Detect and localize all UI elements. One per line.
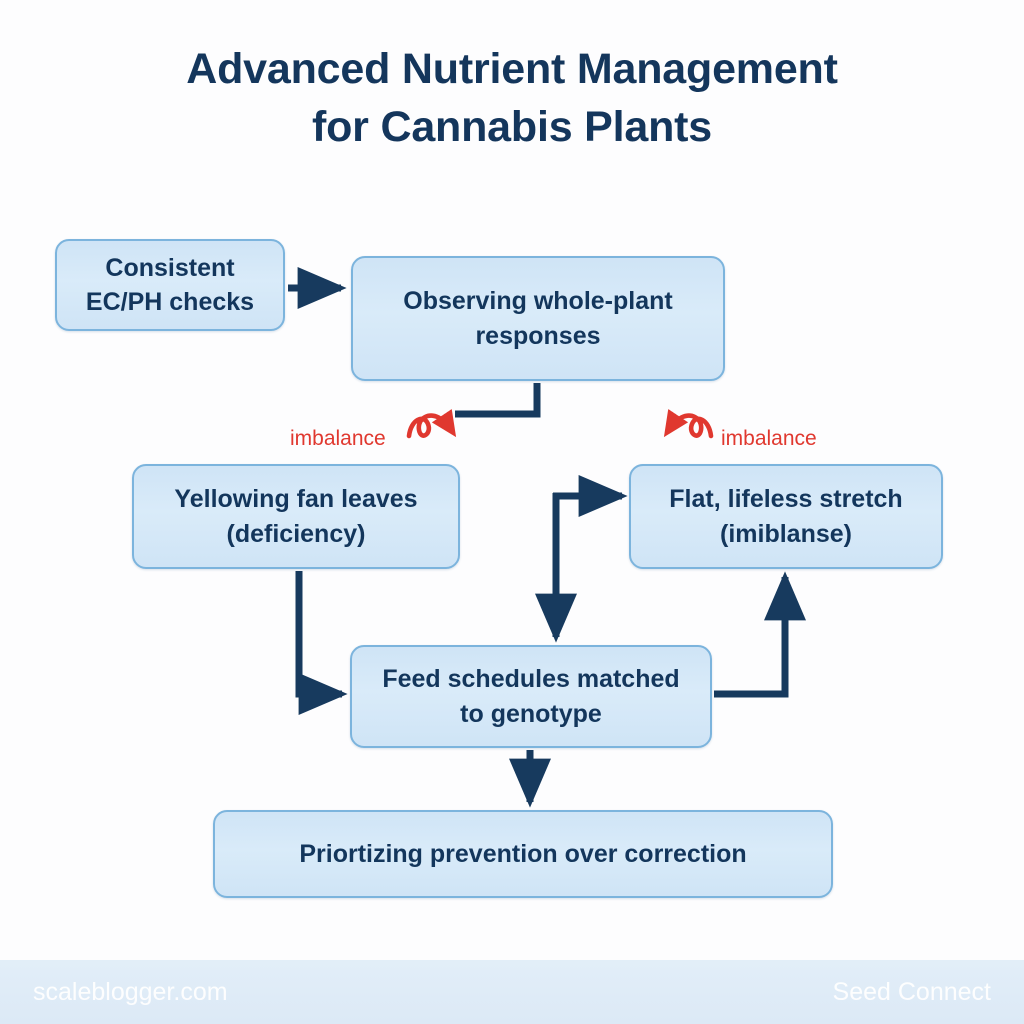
node-prevention-label: Priortizing prevention over correction [299,837,746,872]
node-observing-line-1: Observing whole-plant [403,287,672,315]
node-feed-line-1: Feed schedules matched [382,665,679,693]
node-feed-line-2: to genotype [460,700,602,728]
footer-bar: scaleblogger.com Seed Connect [0,960,1024,1024]
imbalance-label-right: imbalance [721,427,817,451]
node-flat-lifeless-stretch[interactable]: Flat, lifeless stretch (imiblanse) [629,464,943,569]
footer-brand-name: Seed Connect [833,978,991,1007]
node-flat-line-2: (imiblanse) [720,520,852,548]
node-prioritizing-prevention-over-correction[interactable]: Priortizing prevention over correction [213,810,833,898]
imbalance-right-curl-icon [668,416,711,436]
edge-branch-to-feed [553,493,559,637]
node-observing-line-2: responses [475,322,600,350]
node-observing-whole-plant-responses[interactable]: Observing whole-plant responses [351,256,725,381]
edge-yellowing-to-feed [299,571,342,694]
node-yellowing-line-1: Yellowing fan leaves [174,485,417,513]
node-ec-ph-line-2: EC/PH checks [86,288,254,316]
node-feed-schedules-matched-to-genotype[interactable]: Feed schedules matched to genotype [350,645,712,748]
edge-feed-to-flat [714,577,785,694]
edge-observing-to-branch [455,383,537,414]
node-ec-ph-line-1: Consistent [105,254,234,282]
imbalance-left-curl-icon [409,416,452,436]
node-consistent-ec-ph-checks[interactable]: Consistent EC/PH checks [55,239,285,331]
imbalance-label-left: imbalance [290,427,386,451]
footer-site-name: scaleblogger.com [33,978,228,1007]
node-yellowing-fan-leaves[interactable]: Yellowing fan leaves (deficiency) [132,464,460,569]
node-yellowing-line-2: (deficiency) [227,520,366,548]
node-flat-line-1: Flat, lifeless stretch [669,485,902,513]
